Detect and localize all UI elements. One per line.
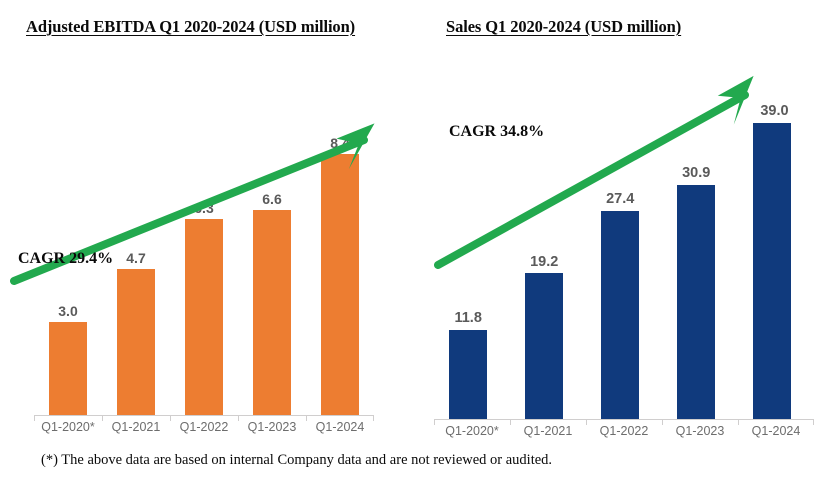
- ebitda-cagr-annotation: CAGR 29.4%: [18, 250, 113, 268]
- sales-cagr-annotation: CAGR 34.8%: [449, 123, 544, 141]
- sales-bar-chart: 11.8 19.2 27.4 30.9 39.0: [420, 50, 838, 445]
- slide-canvas: Adjusted EBITDA Q1 2020-2024 (USD millio…: [0, 0, 838, 485]
- ebitda-chart-title: Adjusted EBITDA Q1 2020-2024 (USD millio…: [26, 17, 355, 37]
- sales-trend-arrow-svg: [420, 50, 838, 445]
- ebitda-bar-chart: 3.0 4.7 6.3 6.6 8.4: [0, 50, 418, 445]
- sales-chart-title: Sales Q1 2020-2024 (USD million): [446, 17, 681, 37]
- ebitda-trend-arrow-svg: [0, 50, 418, 445]
- footnote-text: (*) The above data are based on internal…: [41, 452, 552, 469]
- trend-arrow-icon: [438, 76, 770, 265]
